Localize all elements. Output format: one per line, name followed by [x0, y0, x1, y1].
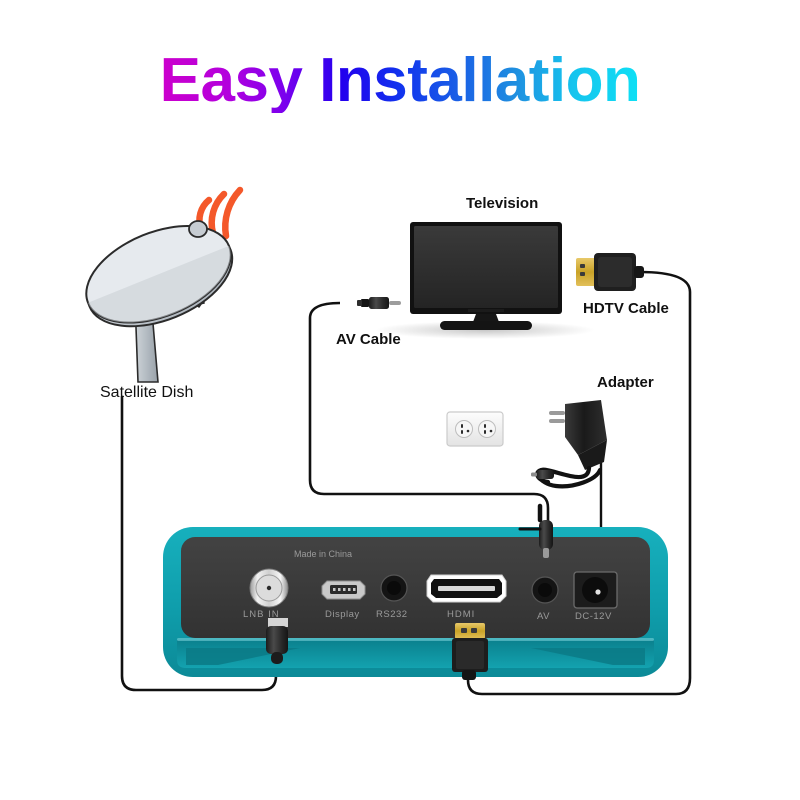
plug-hdmi — [452, 623, 488, 680]
plug-dc — [520, 506, 553, 558]
label-adapter: Adapter — [597, 374, 654, 391]
label-port-hdmi: HDMI — [447, 609, 475, 620]
label-port-display: Display — [325, 609, 360, 620]
label-satellite-dish: Satellite Dish — [100, 384, 193, 402]
label-made-in-china: Made in China — [294, 549, 352, 559]
label-port-dc-12v: DC-12V — [575, 611, 612, 622]
plug-lnb — [266, 618, 288, 664]
label-television: Television — [466, 195, 538, 212]
label-port-lnb-in: LNB IN — [243, 609, 280, 620]
label-hdtv-cable: HDTV Cable — [583, 300, 669, 317]
label-av-cable: AV Cable — [336, 331, 401, 348]
installation-diagram: Easy Installation — [0, 0, 800, 800]
label-port-rs232: RS232 — [376, 609, 408, 620]
label-port-av: AV — [537, 611, 550, 622]
